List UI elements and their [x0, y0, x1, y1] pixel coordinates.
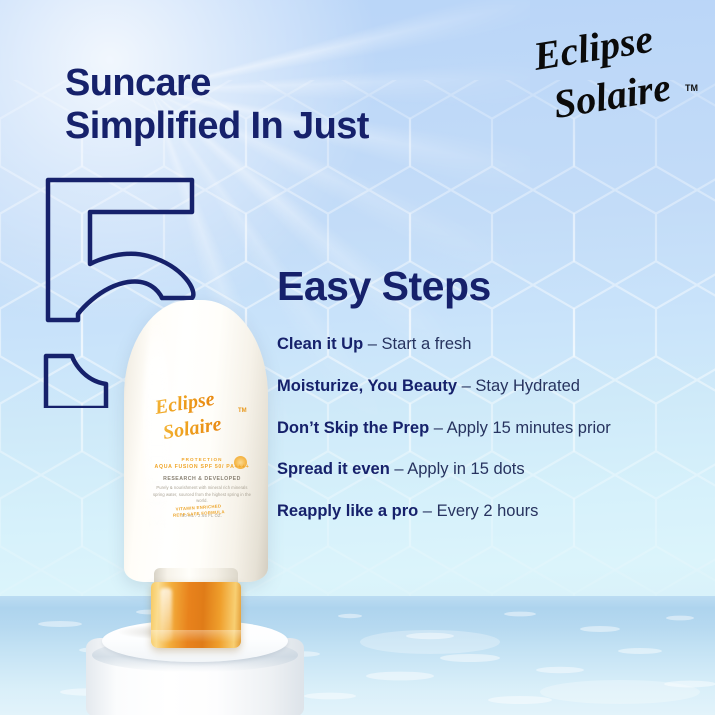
bottle-description: Purely & nourishment with mineral rich m…	[152, 485, 252, 505]
headline-line-1: Suncare	[65, 62, 465, 105]
step-name: Moisturize, You Beauty	[277, 377, 457, 395]
list-item: Moisturize, You Beauty – Stay Hydrated	[277, 377, 697, 397]
bottle-cap-band	[151, 630, 241, 642]
step-dash: –	[363, 335, 381, 353]
bottle-badge: VITAMIN ENRICHED REEF SAFE FORMULA	[171, 503, 226, 527]
step-dash: –	[429, 419, 446, 437]
step-name: Clean it Up	[277, 335, 363, 353]
bottle-spf-block: PROTECTION AQUA FUSION SPF 50/ PA++++	[146, 457, 258, 471]
bottle-spf-label: AQUA FUSION SPF 50/ PA++++	[146, 464, 258, 471]
bottle-protection-label: PROTECTION	[146, 457, 258, 464]
bottle-trademark-symbol: TM	[238, 408, 247, 414]
step-dash: –	[418, 502, 436, 520]
brand-logo: Eclipse Solaire TM	[530, 26, 700, 138]
step-description: Stay Hydrated	[475, 377, 580, 395]
steps-list: Clean it Up – Start a fresh Moisturize, …	[277, 335, 697, 544]
step-description: Apply 15 minutes prior	[447, 419, 611, 437]
list-item: Reapply like a pro – Every 2 hours	[277, 502, 697, 522]
step-description: Apply in 15 dots	[407, 460, 524, 478]
bottle-logo-line2: Solaire	[161, 413, 223, 444]
step-name: Don’t Skip the Prep	[277, 419, 429, 437]
bottle-logo: Eclipse Solaire	[154, 392, 250, 448]
brand-trademark-symbol: TM	[685, 83, 698, 93]
poster-canvas: Eclipse Solaire TM Suncare Simplified In…	[0, 0, 715, 715]
list-item: Don’t Skip the Prep – Apply 15 minutes p…	[277, 419, 697, 439]
step-description: Every 2 hours	[437, 502, 539, 520]
step-name: Reapply like a pro	[277, 502, 418, 520]
list-item: Clean it Up – Start a fresh	[277, 335, 697, 355]
headline-line-2: Simplified In Just	[65, 105, 465, 148]
step-dash: –	[457, 377, 475, 395]
step-name: Spread it even	[277, 460, 390, 478]
steps-heading: Easy Steps	[277, 266, 491, 307]
product-bottle: Eclipse Solaire TM PROTECTION AQUA FUSIO…	[110, 300, 282, 630]
step-description: Start a fresh	[382, 335, 472, 353]
page-title: Suncare Simplified In Just	[65, 62, 465, 148]
list-item: Spread it even – Apply in 15 dots	[277, 460, 697, 480]
bottle-research-label: RESEARCH & DEVELOPED	[146, 476, 258, 482]
step-dash: –	[390, 460, 407, 478]
